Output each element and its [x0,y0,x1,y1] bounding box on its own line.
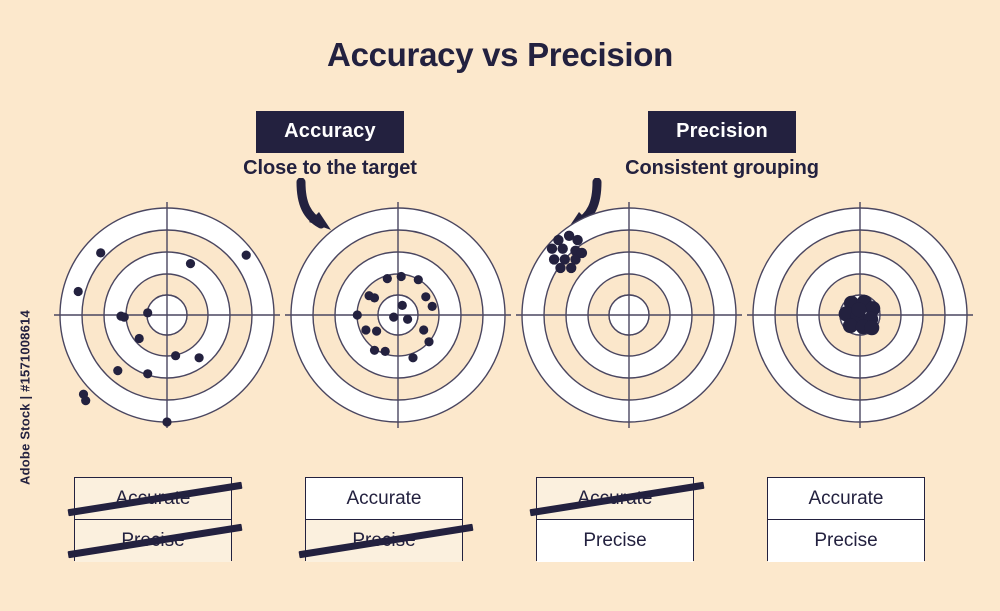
shot-mark [547,244,557,254]
label-text: Accurate [347,488,422,510]
shot-mark [372,327,381,336]
shot-mark [419,325,428,334]
shot-mark [383,274,392,283]
label-cell-accurate: Accurate [306,478,462,520]
shot-mark [186,259,195,268]
label-text: Accurate [809,488,884,510]
target-accurate-not-precise [283,200,513,430]
shot-mark [851,302,866,317]
label-cell-accurate: Accurate [768,478,924,520]
shot-mark [370,346,379,355]
shot-mark [577,248,587,258]
subtitle-accuracy: Close to the target [206,157,454,180]
shot-mark [403,315,412,324]
label-box-4: Accurate Precise [767,477,925,561]
shot-mark [558,244,568,254]
shot-mark [361,325,370,334]
target-precise-not-accurate [514,200,744,430]
shot-mark [398,301,407,310]
shot-mark [242,251,251,260]
label-box-1: Accurate Precise [74,477,232,561]
shot-mark [421,292,430,301]
label-box-2: Accurate Precise [305,477,463,561]
shot-mark [195,353,204,362]
shot-mark [572,235,582,245]
label-cell-accurate: Accurate [75,478,231,520]
page-title: Accuracy vs Precision [0,36,1000,74]
label-text: Accurate [116,488,191,510]
shot-mark [113,366,122,375]
shot-mark [116,312,125,321]
shot-mark [397,272,406,281]
label-text: Precise [583,530,646,552]
label-cell-precise: Precise [537,520,693,562]
label-cell-precise: Precise [75,520,231,562]
shot-mark [171,351,180,360]
shot-mark [370,293,379,302]
shot-mark [414,275,423,284]
shot-mark [135,334,144,343]
shot-mark [408,353,417,362]
label-cell-accurate: Accurate [537,478,693,520]
shot-mark [143,308,152,317]
shot-mark [143,369,152,378]
shot-mark [81,396,90,405]
badge-precision: Precision [648,111,796,153]
shot-mark [96,248,105,257]
stock-watermark: Adobe Stock | #1571008614 [18,288,33,508]
label-box-3: Accurate Precise [536,477,694,561]
infographic-canvas: Accuracy vs Precision Accuracy Close to … [0,0,1000,611]
badge-accuracy: Accuracy [256,111,404,153]
label-text: Precise [352,530,415,552]
shot-mark [566,263,576,273]
shot-mark [162,417,171,426]
label-cell-precise: Precise [768,520,924,562]
shot-mark [864,320,879,335]
shot-mark [353,310,362,319]
label-cell-precise: Precise [306,520,462,562]
subtitle-precision: Consistent grouping [586,157,858,180]
shot-mark [389,313,398,322]
shot-mark [428,302,437,311]
shot-mark [843,318,858,333]
target-accurate-and-precise [745,200,975,430]
label-text: Precise [121,530,184,552]
shot-mark [74,287,83,296]
target-not-accurate-not-precise [52,200,282,430]
shot-mark [555,263,565,273]
label-text: Accurate [578,488,653,510]
shot-mark [549,254,559,264]
shot-mark [381,347,390,356]
shot-mark [424,337,433,346]
label-text: Precise [814,530,877,552]
